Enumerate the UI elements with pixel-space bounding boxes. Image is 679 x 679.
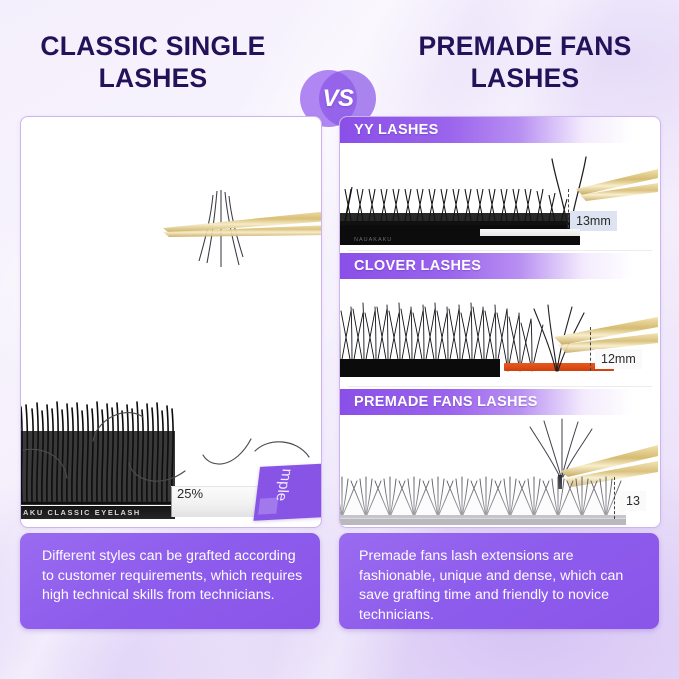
right-caption-text: Premade fans lash extensions are fashion… [359, 547, 645, 625]
clover-measure-label: 12mm [595, 349, 642, 369]
divider-1 [348, 250, 652, 251]
section-header-premade: PREMADE FANS LASHES [340, 389, 660, 415]
section-body-premade: 13 [340, 415, 660, 527]
divider-2 [348, 386, 652, 387]
section-premade-fans: PREMADE FANS LASHES [340, 389, 660, 527]
loose-lash-curls [21, 395, 321, 515]
section-body-clover: 12mm [340, 279, 660, 389]
premade-fans-row [340, 473, 626, 527]
yy-tray-microtext: NAUAKAKU [354, 237, 392, 243]
yy-measure-label: 13mm [570, 211, 617, 231]
section-yy-lashes: YY LASHES [340, 117, 660, 253]
premade-measure-line [614, 477, 615, 519]
header: CLASSIC SINGLE LASHES VS PREMADE FANS LA… [0, 30, 679, 102]
premade-measure-label: 13 [620, 491, 646, 511]
clover-measure-line [590, 327, 591, 371]
section-title-clover: CLOVER LASHES [340, 258, 481, 274]
yy-measure-line [568, 189, 569, 233]
tweezer-icon [161, 187, 322, 282]
section-title-premade: PREMADE FANS LASHES [340, 394, 538, 410]
premade-fans-lashes-panel: YY LASHES [339, 116, 661, 528]
section-header-yy: YY LASHES [340, 117, 660, 143]
right-heading: PREMADE FANS LASHES [380, 30, 670, 94]
yy-measure-rule [480, 229, 580, 236]
left-caption-card: Different styles can be grafted accordin… [20, 533, 320, 629]
section-header-clover: CLOVER LASHES [340, 253, 660, 279]
section-title-yy: YY LASHES [340, 122, 439, 138]
right-caption-card: Premade fans lash extensions are fashion… [339, 533, 659, 629]
section-body-yy: NAUAKAKU [340, 143, 660, 253]
section-clover-lashes: CLOVER LASHES [340, 253, 660, 389]
left-caption-text: Different styles can be grafted accordin… [42, 547, 306, 606]
classic-single-lashes-panel: AKU CLASSIC EYELASH 25% mple [20, 116, 322, 528]
left-heading: CLASSIC SINGLE LASHES [8, 30, 298, 94]
infographic-root: CLASSIC SINGLE LASHES VS PREMADE FANS LA… [0, 0, 679, 679]
